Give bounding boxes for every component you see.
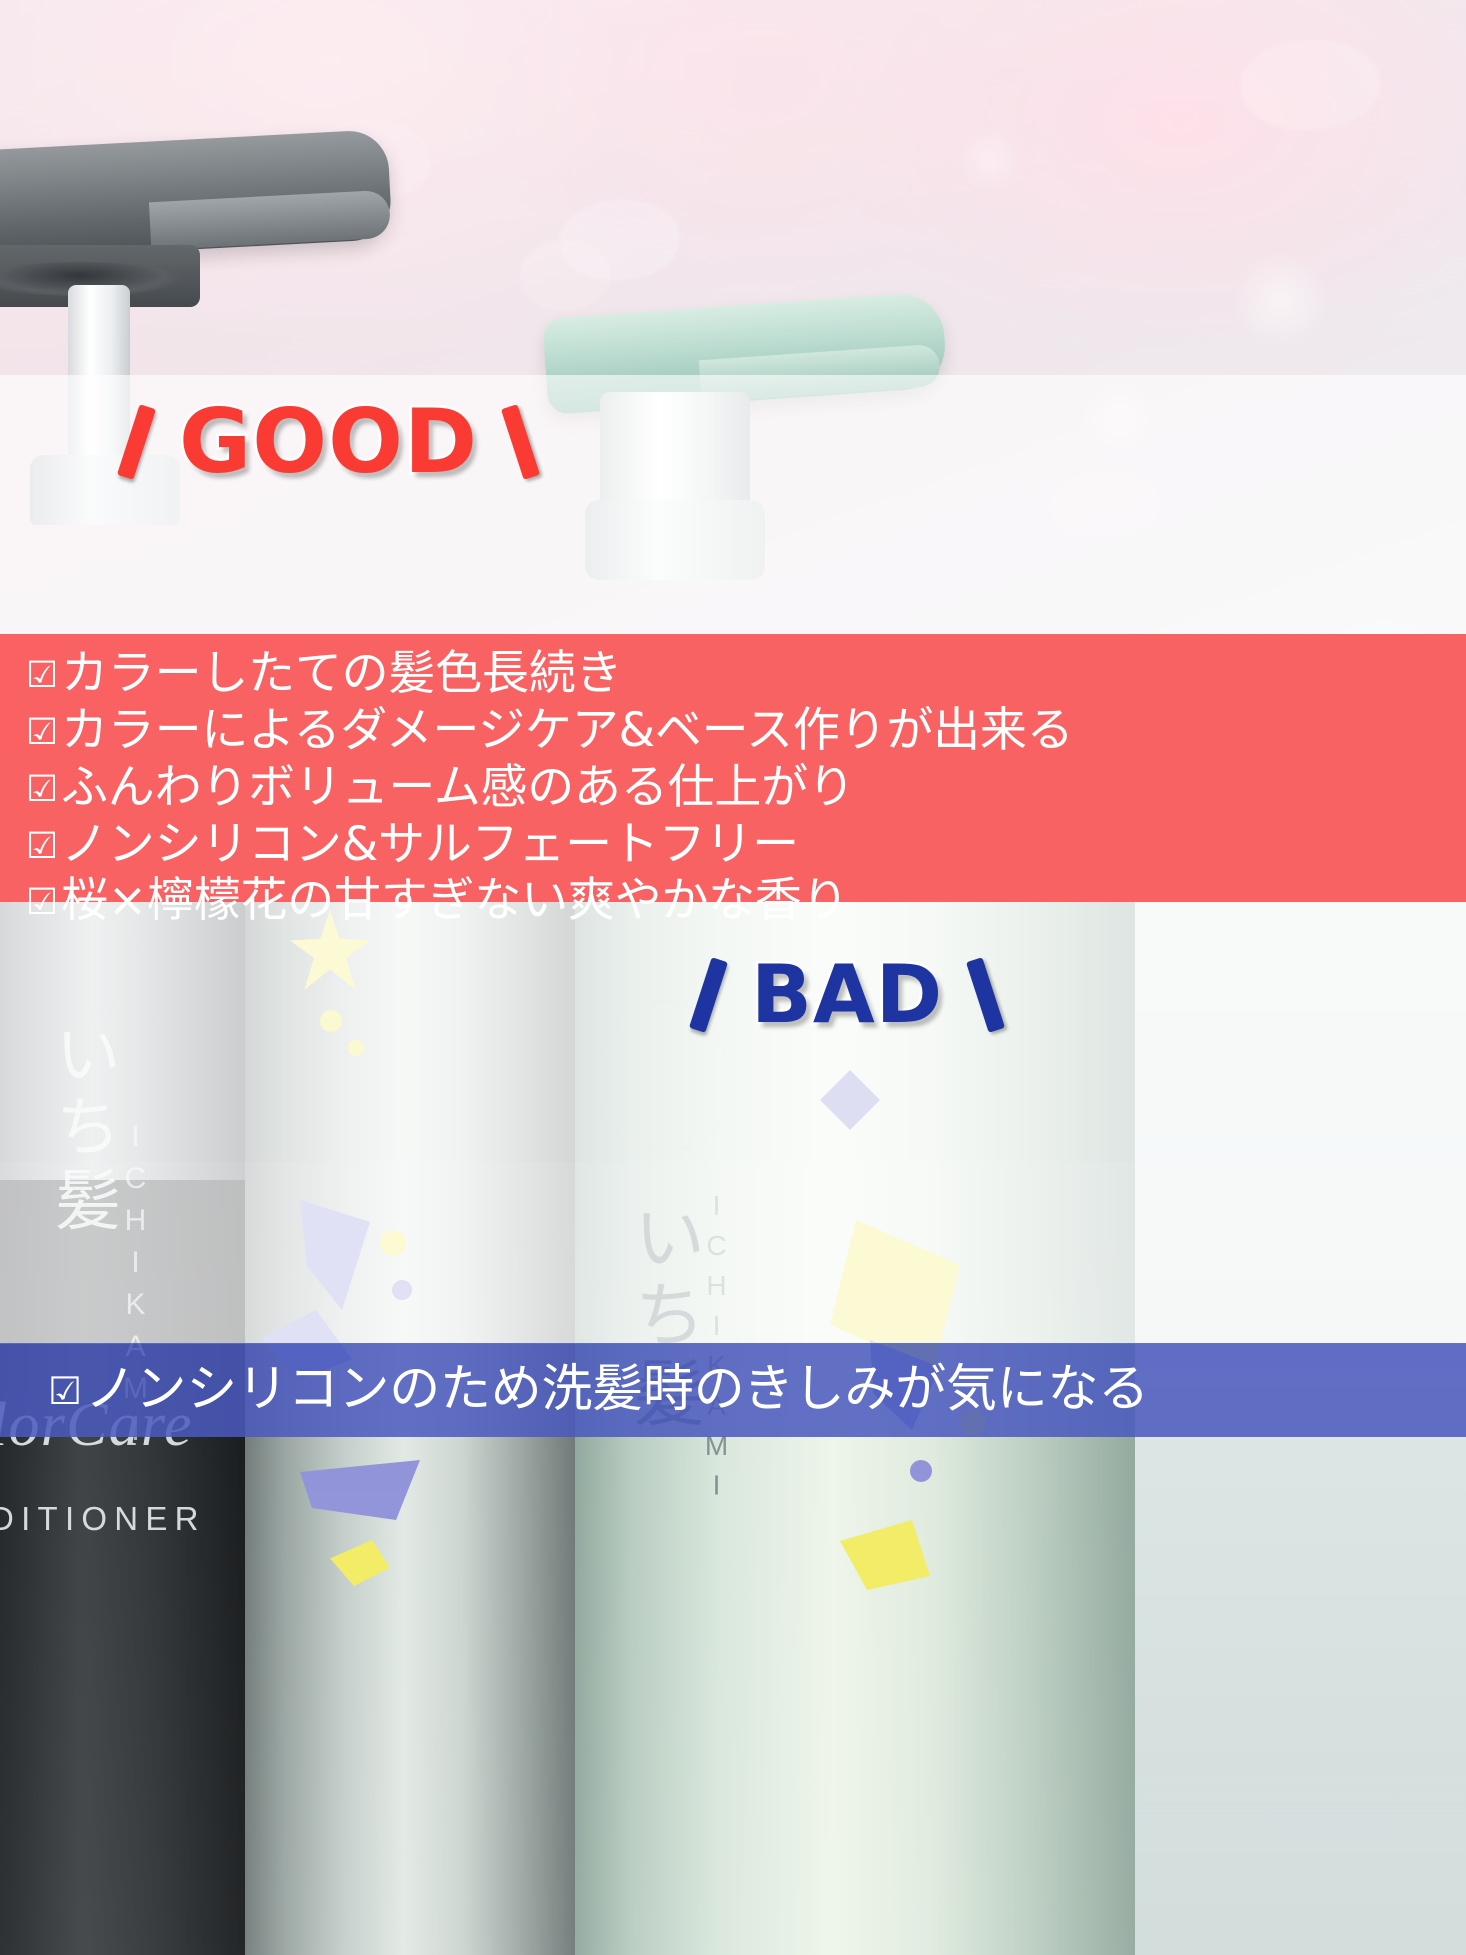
checkbox-icon: ☑ <box>26 885 58 921</box>
list-item-label: カラーしたての髪色長続き <box>61 646 622 703</box>
list-item-label: ノンシリコンのため洗髪時のきしみが気になる <box>85 1359 1149 1421</box>
petal-decoration <box>1240 40 1380 130</box>
list-item-label: ノンシリコン&サルフェートフリー <box>61 817 799 874</box>
checkbox-icon: ☑ <box>26 772 58 808</box>
list-item: ☑ カラーによるダメージケア&ベース作りが出来る <box>26 703 1466 760</box>
petal-decoration <box>520 240 610 310</box>
list-item: ☑ カラーしたての髪色長続き <box>26 646 1466 703</box>
list-item: ☑ 桜×檸檬花の甘すぎない爽やかな香り <box>26 873 1466 930</box>
good-points-list: ☑ カラーしたての髪色長続き ☑ カラーによるダメージケア&ベース作りが出来る … <box>26 646 1466 930</box>
bad-points-panel: ☑ ノンシリコンのため洗髪時のきしみが気になる <box>0 1343 1466 1437</box>
bad-heading: BAD <box>700 955 994 1035</box>
bottle-left-product-type: DITIONER <box>0 1500 206 1538</box>
white-band-bad-heading <box>0 1162 1466 1344</box>
good-heading: GOOD <box>128 398 529 486</box>
poster-root: いち髪 ICHIKAMI lorCare DITIONER いち髪 ICHIKA… <box>0 0 1466 1955</box>
list-item: ☑ ふんわりボリューム感のある仕上がり <box>26 760 1466 817</box>
checkbox-icon: ☑ <box>26 829 58 865</box>
list-item: ☑ ノンシリコンのため洗髪時のきしみが気になる <box>48 1359 1149 1421</box>
checkbox-icon: ☑ <box>48 1372 82 1410</box>
list-item-label: ふんわりボリューム感のある仕上がり <box>61 760 855 817</box>
good-points-panel: ☑ カラーしたての髪色長続き ☑ カラーによるダメージケア&ベース作りが出来る … <box>0 634 1466 902</box>
floral-dot-blue <box>910 1460 932 1482</box>
checkbox-icon: ☑ <box>26 715 58 751</box>
bad-heading-label: BAD <box>751 955 943 1035</box>
good-heading-label: GOOD <box>179 398 478 486</box>
list-item: ☑ ノンシリコン&サルフェートフリー <box>26 817 1466 874</box>
list-item-label: 桜×檸檬花の甘すぎない爽やかな香り <box>61 873 848 930</box>
checkbox-icon: ☑ <box>26 658 58 694</box>
list-item-label: カラーによるダメージケア&ベース作りが出来る <box>61 703 1073 760</box>
